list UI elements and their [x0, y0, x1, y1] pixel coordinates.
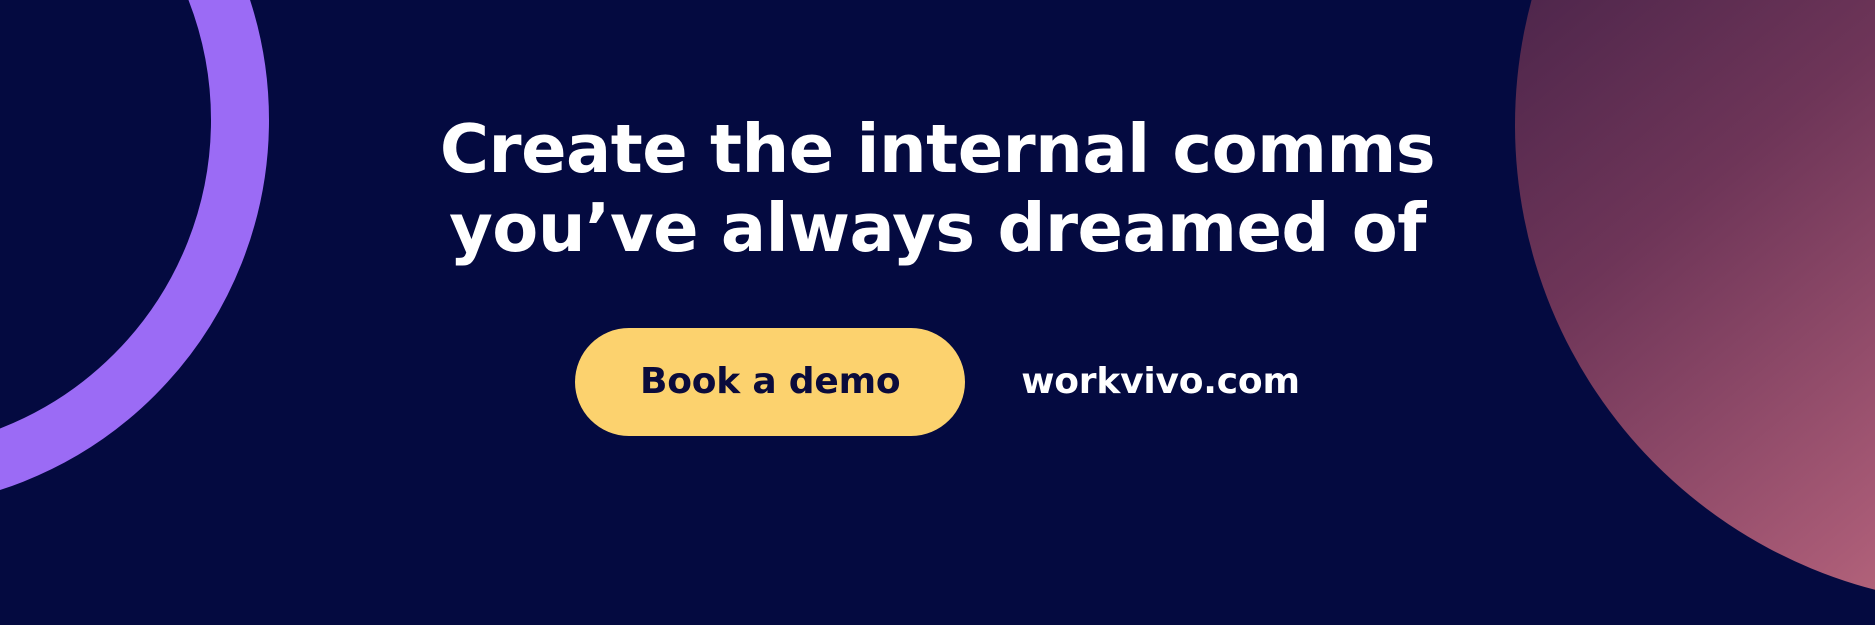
banner-content: Create the internal comms you’ve always … [0, 0, 1875, 625]
headline-line-1: Create the internal comms [440, 116, 1435, 183]
headline-line-2: you’ve always dreamed of [440, 195, 1435, 262]
promo-banner: Create the internal comms you’ve always … [0, 0, 1875, 625]
cta-row: Book a demo workvivo.com [575, 328, 1300, 436]
book-a-demo-button[interactable]: Book a demo [575, 328, 965, 436]
page-title: Create the internal comms you’ve always … [440, 0, 1435, 262]
website-url-link[interactable]: workvivo.com [1021, 364, 1300, 400]
